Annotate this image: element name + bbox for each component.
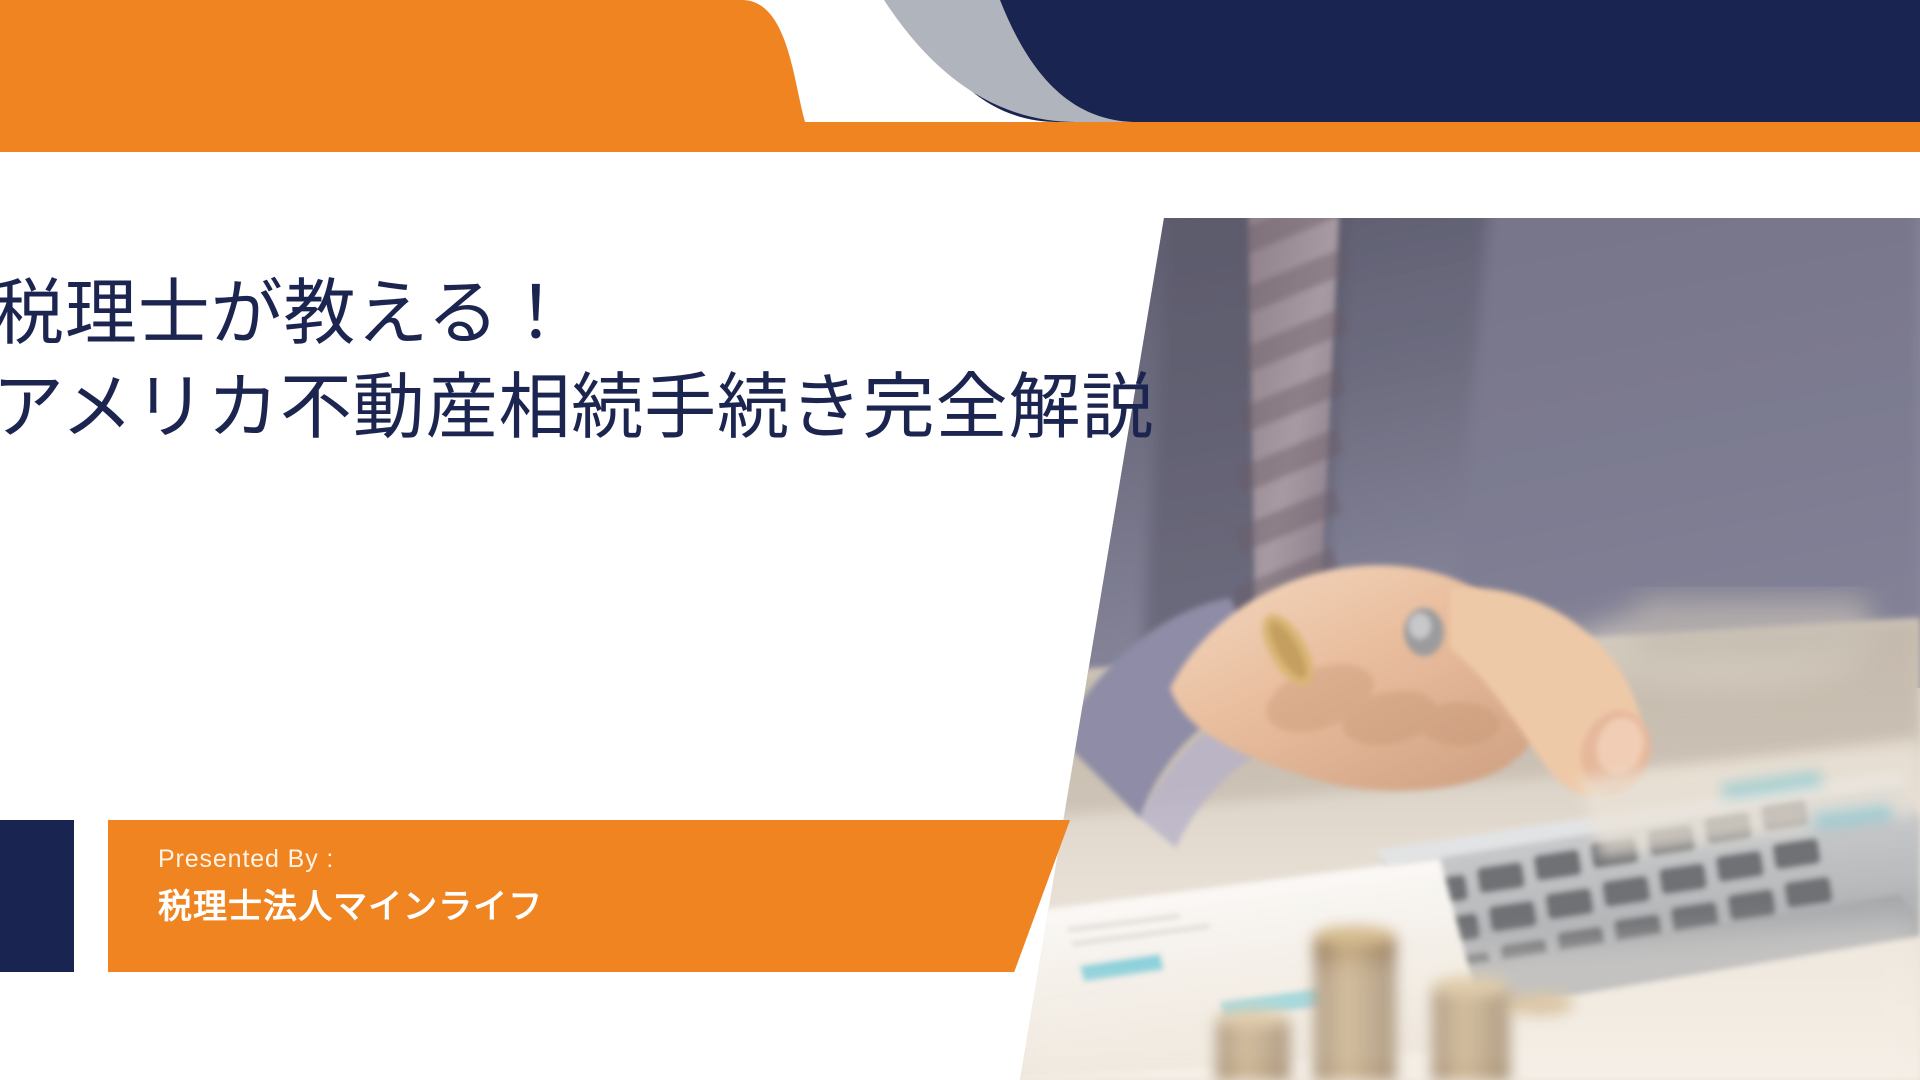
title-line-1: 税理士が教える！ [0,268,1072,362]
presented-by-label: Presented By : [158,843,938,876]
header-orange-bar [0,122,1920,152]
photo-illustration-svg [1020,218,1920,1080]
title-line-2: アメリカ不動産相続手続き完全解説 [0,362,1072,456]
hero-photo [1020,218,1920,1080]
header-decoration-band [0,0,1920,190]
header-shapes-svg [0,0,1920,190]
hero-photo-image [1020,218,1920,1080]
presenter-text-group: Presented By : 税理士法人マインライフ [158,843,938,929]
title-slide: 税理士が教える！ アメリカ不動産相続手続き完全解説 Presented By :… [0,0,1920,1080]
slide-title: 税理士が教える！ アメリカ不動産相続手続き完全解説 [0,268,1072,455]
navy-accent-block [0,820,74,972]
presenter-name: 税理士法人マインライフ [158,885,938,929]
